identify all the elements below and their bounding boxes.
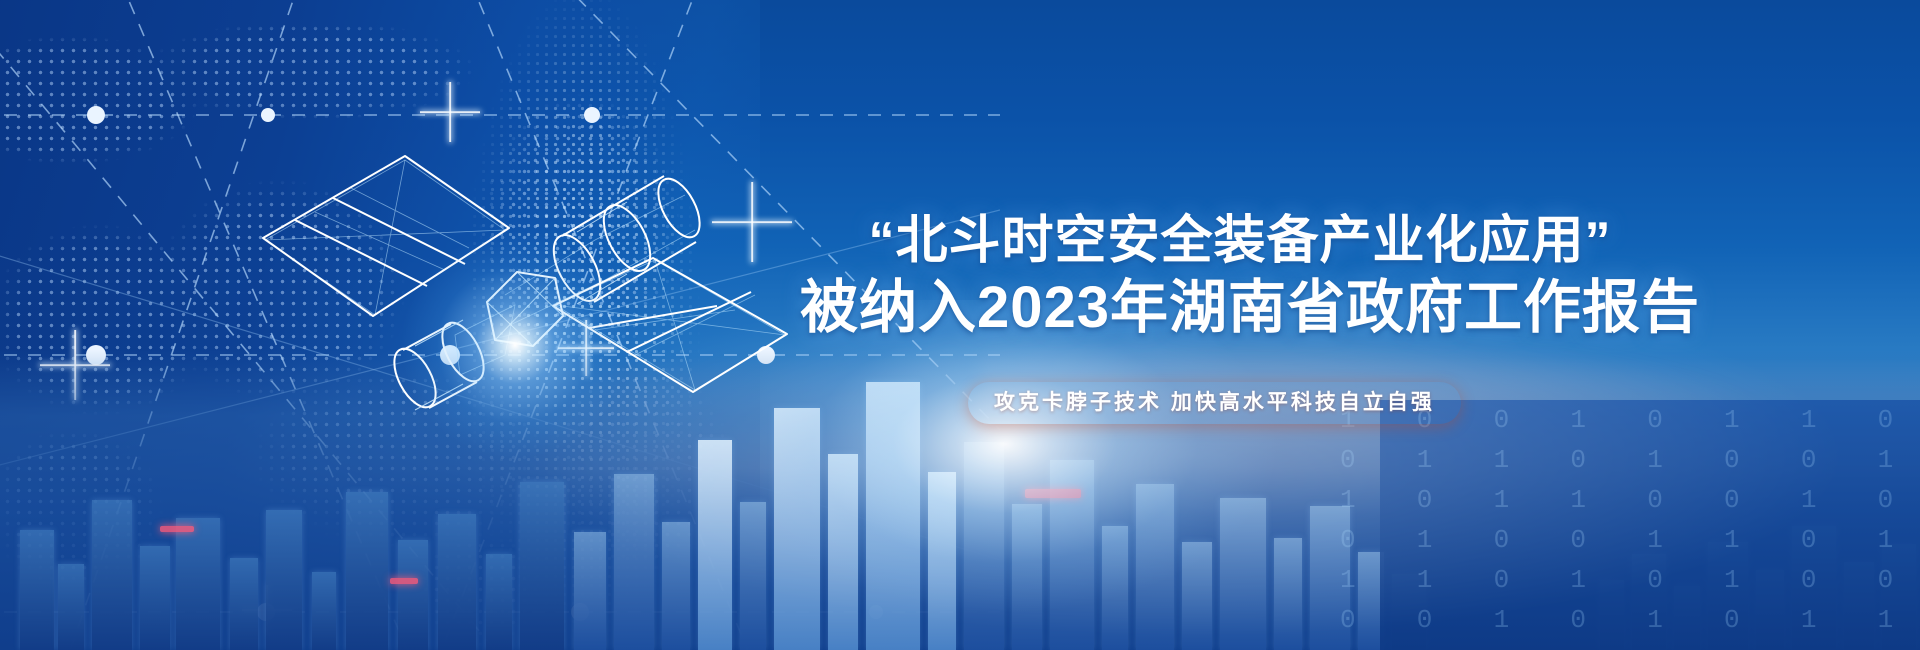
binary-overlay: 1 0 0 1 0 1 1 0 0 1 0 0 0 1 1 0 1 0 0 1 …	[1340, 400, 1920, 640]
satellite-wireframe-icon	[255, 120, 795, 450]
headline-block: “北斗时空安全装备产业化应用” 被纳入2023年湖南省政府工作报告	[800, 212, 1680, 341]
promo-banner: 1 0 0 1 0 1 1 0 0 1 0 0 0 1 1 0 1 0 0 1 …	[0, 0, 1920, 650]
slogan-badge[interactable]: 攻克卡脖子技术 加快高水平科技自立自强	[968, 382, 1461, 424]
headline-line-2: 被纳入2023年湖南省政府工作报告	[800, 276, 1680, 341]
headline-line-1: “北斗时空安全装备产业化应用”	[800, 212, 1680, 270]
slogan-badge-wrap: 攻克卡脖子技术 加快高水平科技自立自强	[968, 382, 1461, 424]
